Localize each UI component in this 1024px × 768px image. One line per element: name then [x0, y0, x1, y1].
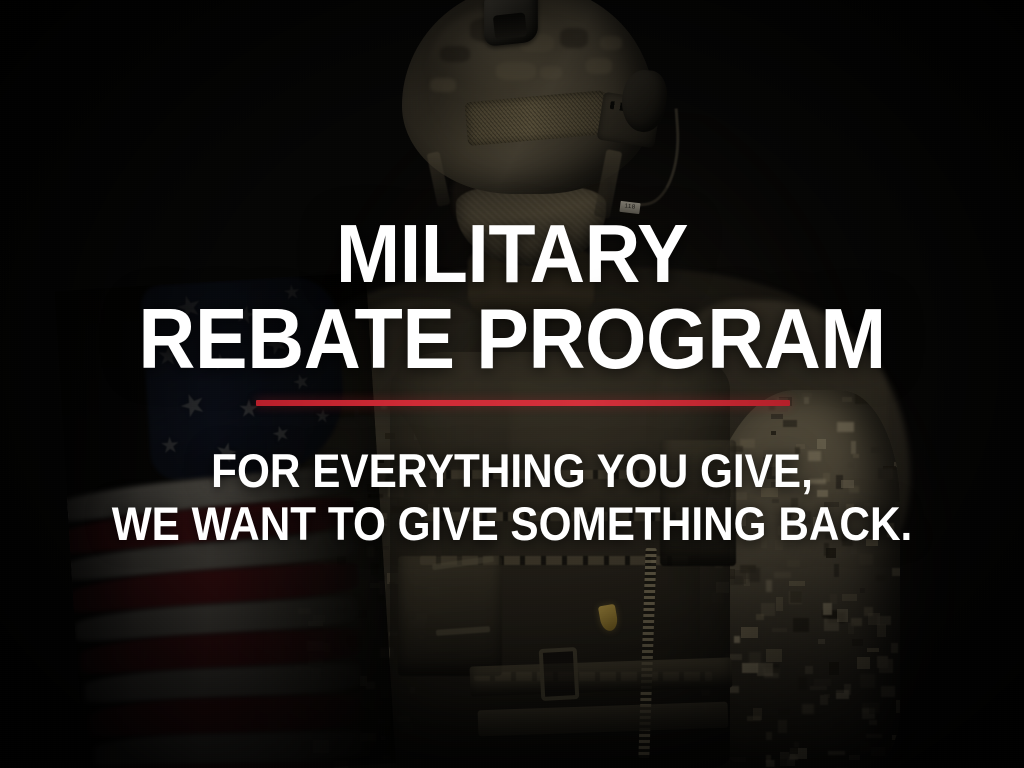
- subhead-line-2: WE WANT TO GIVE SOMETHING BACK.: [51, 500, 973, 547]
- headline-line-1: MILITARY: [36, 213, 988, 294]
- headline-line-2: REBATE PROGRAM: [36, 298, 988, 381]
- subhead-line-1: FOR EVERYTHING YOU GIVE,: [51, 447, 973, 494]
- slide-canvas: 118 ★★★★★★★★★★★★★★★ MILITARY REBATE PROG…: [0, 0, 1024, 768]
- red-divider-rule: [256, 400, 790, 406]
- text-overlay: MILITARY REBATE PROGRAM FOR EVERYTHING Y…: [0, 0, 1024, 768]
